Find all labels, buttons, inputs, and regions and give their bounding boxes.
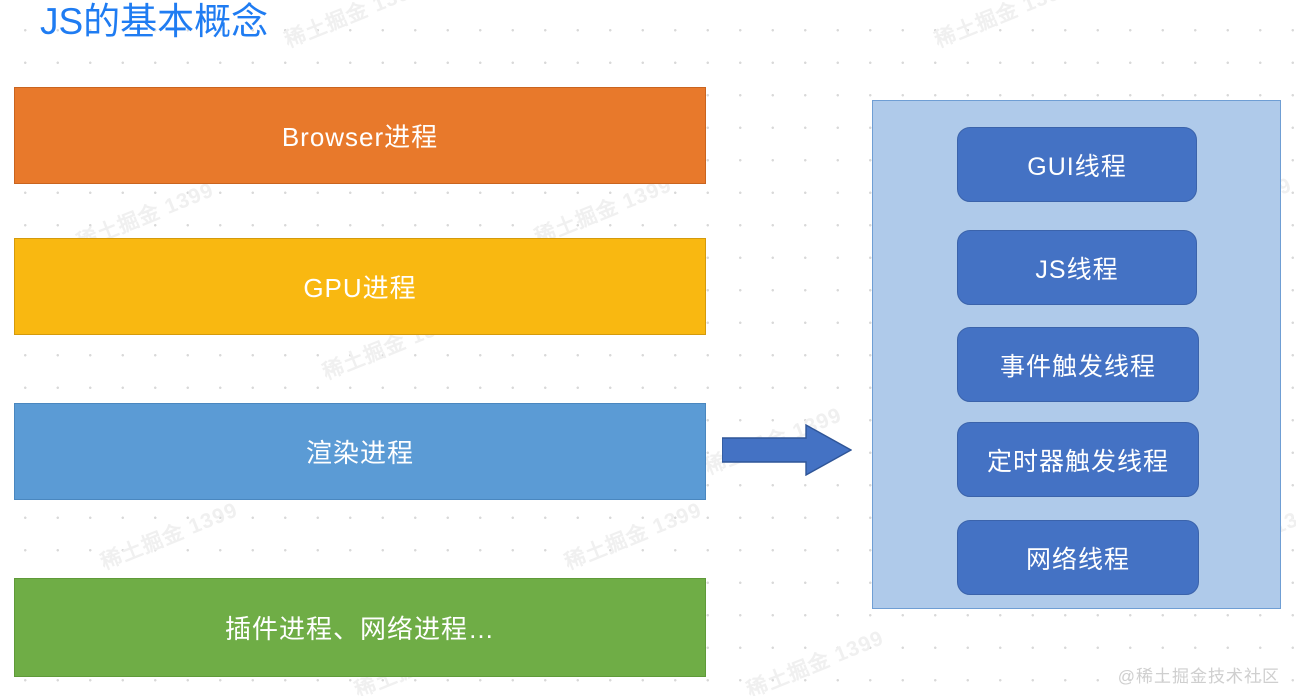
process-bar-label: 渲染进程 (306, 433, 414, 470)
process-bar-browser: Browser进程 (14, 87, 706, 184)
process-bar-renderer: 渲染进程 (14, 403, 706, 500)
thread-item-timer-trigger: 定时器触发线程 (957, 422, 1199, 497)
background-watermark: 稀土掘金 1399 (560, 494, 706, 576)
thread-item-network: 网络线程 (957, 520, 1199, 595)
thread-item-js: JS线程 (957, 230, 1197, 305)
process-bar-plugin-network: 插件进程、网络进程… (14, 578, 706, 677)
thread-item-label: 事件触发线程 (1000, 347, 1156, 383)
slide-canvas: 稀土掘金 1399 稀土掘金 1399 稀土掘金 1399 稀土掘金 1399 … (0, 0, 1296, 696)
process-bar-label: 插件进程、网络进程… (225, 609, 495, 646)
process-bar-gpu: GPU进程 (14, 238, 706, 335)
thread-item-label: 网络线程 (1026, 540, 1130, 576)
background-watermark: 稀土掘金 1399 (742, 622, 888, 696)
thread-item-event-trigger: 事件触发线程 (957, 327, 1199, 402)
thread-item-gui: GUI线程 (957, 127, 1197, 202)
process-bar-label: Browser进程 (282, 117, 438, 154)
thread-item-label: JS线程 (1035, 250, 1118, 286)
credit-watermark: @稀土掘金技术社区 (1118, 662, 1280, 687)
thread-item-label: 定时器触发线程 (987, 442, 1169, 478)
thread-item-label: GUI线程 (1027, 147, 1126, 183)
background-watermark: 稀土掘金 1399 (96, 494, 242, 576)
thread-panel: GUI线程 JS线程 事件触发线程 定时器触发线程 网络线程 (872, 100, 1281, 609)
background-watermark: 稀土掘金 1399 (930, 0, 1076, 54)
right-arrow-icon (722, 424, 852, 476)
background-watermark: 稀土掘金 1399 (280, 0, 426, 54)
page-title: JS的基本概念 (40, 0, 268, 45)
process-bar-label: GPU进程 (303, 268, 416, 305)
